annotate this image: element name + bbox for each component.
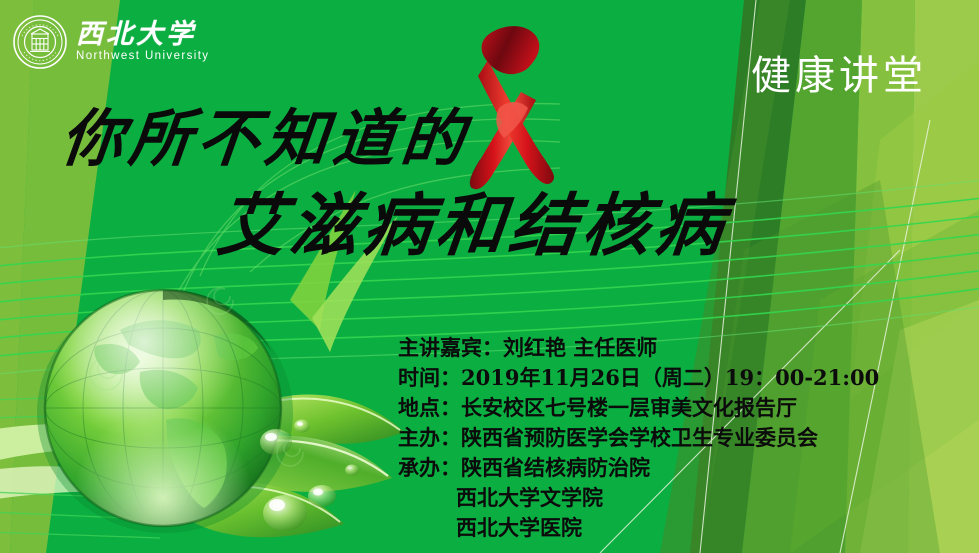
health-lecture-poster: 西北大学 Northwest University 健康讲堂 你所不知道的 艾滋… (0, 0, 979, 553)
university-logo: 西北大学 Northwest University (12, 14, 209, 70)
logo-name-cn: 西北大学 (76, 21, 209, 48)
info-line: 主讲嘉宾：刘红艳 主任医师 (398, 333, 879, 363)
info-line: 西北大学文学院 (398, 483, 879, 513)
info-line: 时间：2019年11月26日（周二）19：00-21:00 (398, 363, 879, 393)
info-line: 主办：陕西省预防医学会学校卫生专业委员会 (398, 423, 879, 453)
logo-name-en: Northwest University (76, 51, 209, 63)
info-line: 地点：长安校区七号楼一层审美文化报告厅 (398, 393, 879, 423)
info-line: 承办：陕西省结核病防治院 (398, 453, 879, 483)
banner-title: 健康讲堂 (751, 43, 927, 101)
university-seal-icon (12, 14, 68, 70)
info-line: 西北大学医院 (398, 513, 879, 543)
event-info-block: 主讲嘉宾：刘红艳 主任医师时间：2019年11月26日（周二）19：00-21:… (398, 333, 879, 543)
